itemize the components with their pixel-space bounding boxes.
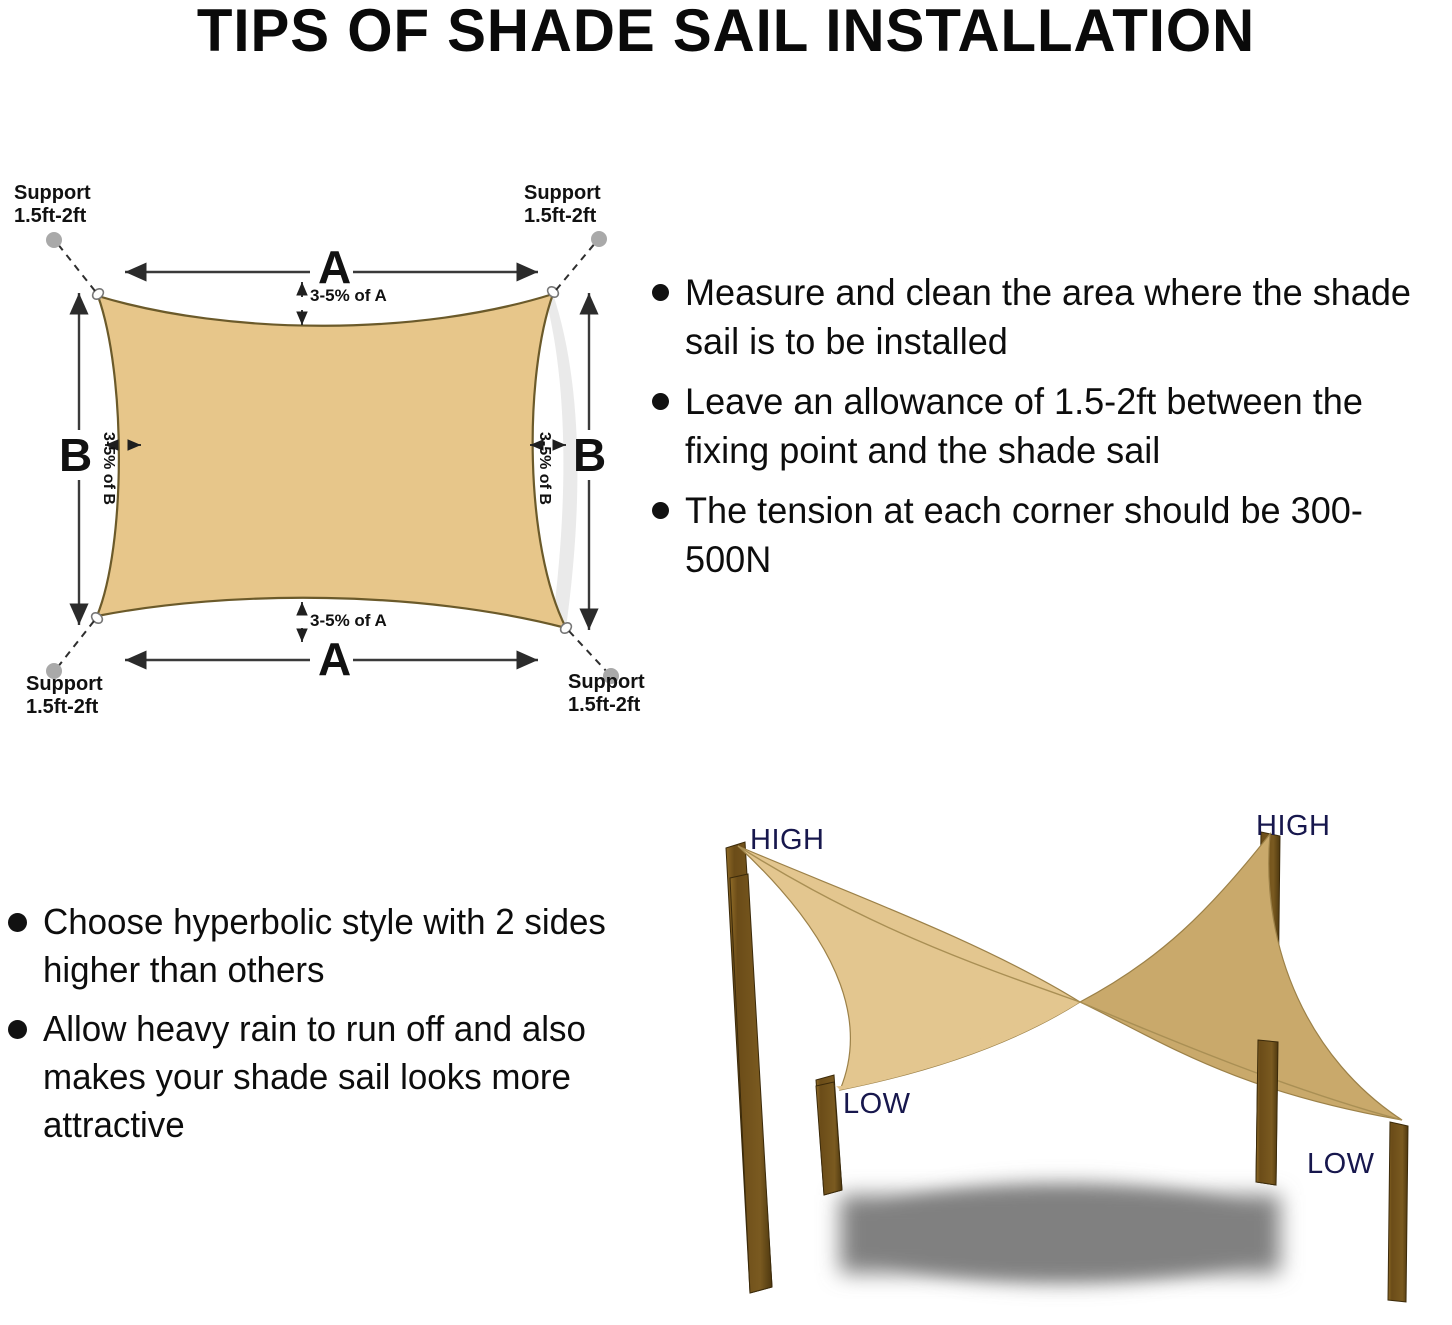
ground-shadow-body <box>840 1195 1280 1273</box>
rope-top-left <box>57 243 95 291</box>
list-item: Measure and clean the area where the sha… <box>652 268 1452 366</box>
tips-list-top: Measure and clean the area where the sha… <box>652 268 1452 595</box>
bullet-dot-icon <box>652 502 669 519</box>
hyperbolic-sail-diagram <box>690 790 1452 1325</box>
list-item-label: Leave an allowance of 1.5-2ft between th… <box>685 377 1433 475</box>
curve-depth-top: 3-5% of A <box>310 286 387 306</box>
post-low-right <box>1388 1122 1408 1302</box>
tips-list-bottom: Choose hyperbolic style with 2 sides hig… <box>8 898 628 1160</box>
list-item: The tension at each corner should be 300… <box>652 486 1452 584</box>
bullet-dot-icon <box>8 913 27 932</box>
list-item-label: Choose hyperbolic style with 2 sides hig… <box>43 898 610 994</box>
post-high-left-front <box>730 874 772 1293</box>
support-top-left: Support 1.5ft-2ft <box>14 182 91 228</box>
anchor-top-left <box>46 232 62 248</box>
label-low-right: LOW <box>1307 1148 1375 1181</box>
rope-top-right <box>556 242 596 290</box>
support-bottom-right: Support 1.5ft-2ft <box>568 671 645 717</box>
list-item: Allow heavy rain to run off and also mak… <box>8 1005 628 1149</box>
dimension-label-b-right: B <box>573 428 606 482</box>
infographic-page: TIPS OF SHADE SAIL INSTALLATION <box>0 0 1452 1325</box>
post-high-right-front <box>1256 1040 1278 1185</box>
support-bottom-left: Support 1.5ft-2ft <box>26 673 103 719</box>
label-low-left: LOW <box>843 1088 911 1121</box>
bullet-dot-icon <box>8 1020 27 1039</box>
label-high-right: HIGH <box>1256 810 1331 843</box>
post-low-left-front <box>816 1082 842 1195</box>
bullet-dot-icon <box>652 284 669 301</box>
curve-depth-right: 3-5% of B <box>535 432 553 505</box>
dimension-label-a-bottom: A <box>318 632 351 686</box>
list-item-label: The tension at each corner should be 300… <box>685 486 1433 584</box>
label-high-left: HIGH <box>750 824 825 857</box>
dimension-label-b-left: B <box>59 428 92 482</box>
list-item-label: Allow heavy rain to run off and also mak… <box>43 1005 610 1149</box>
list-item-label: Measure and clean the area where the sha… <box>685 268 1433 366</box>
sail-body <box>97 294 566 628</box>
anchor-top-right <box>591 231 607 247</box>
rope-bottom-right <box>569 631 608 673</box>
page-title: TIPS OF SHADE SAIL INSTALLATION <box>22 0 1430 65</box>
rope-bottom-left <box>57 621 94 668</box>
curve-depth-left: 3-5% of B <box>99 432 117 505</box>
curve-depth-bottom: 3-5% of A <box>310 611 387 631</box>
bullet-dot-icon <box>652 393 669 410</box>
support-top-right: Support 1.5ft-2ft <box>524 182 601 228</box>
sail-lobe-left <box>738 846 1080 1090</box>
list-item: Choose hyperbolic style with 2 sides hig… <box>8 898 628 994</box>
list-item: Leave an allowance of 1.5-2ft between th… <box>652 377 1452 475</box>
